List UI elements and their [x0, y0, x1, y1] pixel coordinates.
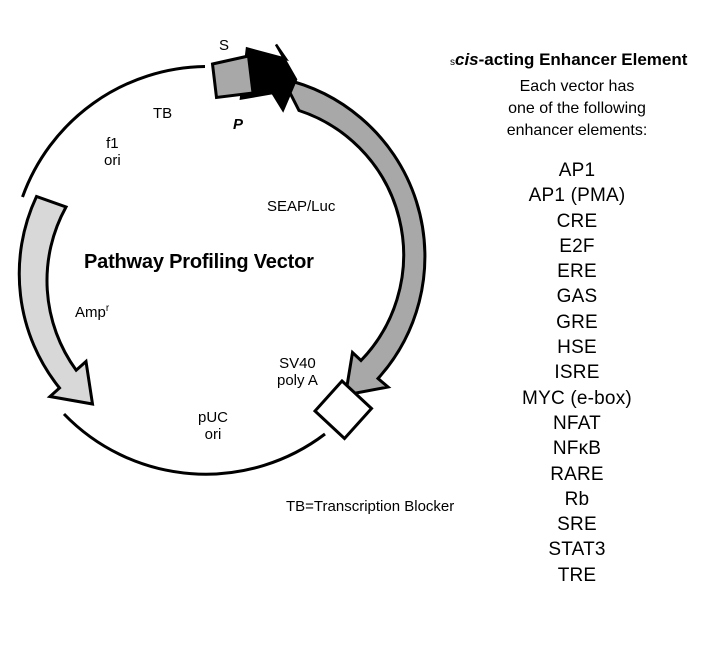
- enhancer-element-item: E2F: [440, 234, 714, 259]
- enhancer-element-item: NFκB: [440, 436, 714, 461]
- backbone-arc-bottom: [64, 414, 325, 474]
- enhancer-panel-heading: scis-acting Enhancer Element: [440, 50, 714, 70]
- enhancer-element-item: ISRE: [440, 360, 714, 385]
- label-tb: TB: [153, 105, 172, 122]
- enhancer-element-item: GRE: [440, 310, 714, 335]
- label-puc-ori: pUC ori: [198, 409, 228, 443]
- enhancer-element-item: RARE: [440, 462, 714, 487]
- plasmid-map-svg: [0, 0, 440, 645]
- enhancer-element-item: HSE: [440, 335, 714, 360]
- heading-cis-italic: cis: [455, 50, 479, 69]
- enhancer-element-item: AP1: [440, 158, 714, 183]
- enhancer-element-item: Rb: [440, 487, 714, 512]
- heading-rest: -acting Enhancer Element: [479, 50, 688, 69]
- label-puc-line1: pUC: [198, 409, 228, 426]
- label-amp-r: Ampr: [75, 300, 109, 321]
- enhancer-element-item: MYC (e-box): [440, 386, 714, 411]
- enhancer-intro-line1: Each vector has: [440, 76, 714, 98]
- enhancer-element-item: AP1 (PMA): [440, 183, 714, 208]
- legend-footnote: TB=Transcription Blocker: [286, 498, 454, 515]
- label-amp-r-base: Amp: [75, 304, 106, 321]
- feature-s-box: [213, 56, 254, 98]
- label-promoter-p: P: [233, 116, 243, 133]
- enhancer-intro-line2: one of the following: [440, 98, 714, 120]
- enhancer-panel: scis-acting Enhancer Element Each vector…: [440, 0, 714, 645]
- enhancer-element-item: ERE: [440, 259, 714, 284]
- plasmid-center-title: Pathway Profiling Vector: [84, 254, 314, 271]
- label-f1-ori: f1 ori: [104, 135, 121, 169]
- label-seap-luc: SEAP/Luc: [267, 198, 335, 215]
- feature-seap-luc: [283, 79, 425, 395]
- enhancer-element-item: CRE: [440, 209, 714, 234]
- label-amp-r-superscript: r: [106, 303, 109, 314]
- plasmid-map-panel: S P TB f1 ori SEAP/Luc Pathway Profiling…: [0, 0, 440, 645]
- enhancer-element-item: STAT3: [440, 537, 714, 562]
- label-f1-ori-line2: ori: [104, 152, 121, 169]
- enhancer-element-item: NFAT: [440, 411, 714, 436]
- enhancer-element-item: TRE: [440, 563, 714, 588]
- enhancer-element-item: SRE: [440, 512, 714, 537]
- label-sv40-polya: SV40 poly A: [277, 355, 318, 389]
- enhancer-element-list: AP1AP1 (PMA)CREE2FEREGASGREHSEISREMYC (e…: [440, 158, 714, 588]
- label-puc-line2: ori: [205, 426, 222, 443]
- enhancer-element-item: GAS: [440, 284, 714, 309]
- enhancer-intro-text: Each vector has one of the following enh…: [440, 76, 714, 142]
- plasmid-figure-page: S P TB f1 ori SEAP/Luc Pathway Profiling…: [0, 0, 714, 645]
- label-f1-ori-line1: f1: [106, 135, 119, 152]
- backbone-arc-left: [23, 67, 206, 198]
- enhancer-intro-line3: enhancer elements:: [440, 120, 714, 142]
- label-sv40-line2: poly A: [277, 372, 318, 389]
- label-s: S: [219, 37, 229, 54]
- label-sv40-line1: SV40: [279, 355, 316, 372]
